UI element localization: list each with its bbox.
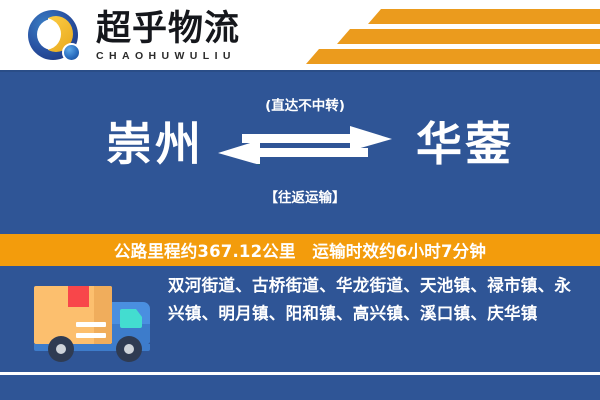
route-info-bar: 公路里程约367.12公里 运输时效约6小时7分钟 — [0, 234, 600, 266]
truck-wheel-front — [116, 336, 142, 362]
company-name-en: CHAOHUWULIU — [96, 50, 286, 63]
route-middle-group: (直达不中转) 【往返运输】 — [230, 94, 380, 214]
truck-box-tape — [68, 286, 89, 307]
direct-service-note: (直达不中转) — [230, 94, 380, 114]
truck-box-line-1 — [76, 322, 106, 327]
distance-duration-text: 公路里程约367.12公里 运输时效约6小时7分钟 — [114, 238, 486, 262]
stripe-1 — [368, 9, 600, 24]
route-section: 崇州 (直达不中转) 【往返运输】 华蓥 — [0, 72, 600, 234]
brand-logo: 超乎物流 CHAOHUWULIU — [26, 9, 286, 65]
brand-text-group: 超乎物流 CHAOHUWULIU — [96, 9, 286, 63]
decorative-stripes — [300, 0, 600, 72]
service-area-line: 兴镇、明月镇、阳和镇、高兴镇、溪口镇、庆华镇 — [168, 300, 580, 328]
round-trip-note: 【往返运输】 — [230, 186, 380, 206]
stripe-3 — [306, 49, 600, 64]
destination-city: 华蓥 — [370, 116, 560, 172]
bidirectional-arrow-icon — [216, 124, 394, 174]
service-area-list: 双河街道、古桥街道、华龙街道、天池镇、禄市镇、永 兴镇、明月镇、阳和镇、高兴镇、… — [168, 272, 580, 328]
chaohu-circle-logo-icon — [26, 10, 86, 64]
truck-box-line-2 — [76, 333, 106, 338]
delivery-truck-icon — [28, 278, 168, 372]
logo-dot-icon — [62, 43, 81, 62]
ground-line — [0, 372, 600, 375]
logistics-route-banner: 超乎物流 CHAOHUWULIU 崇州 (直达不中转) 【往返运输】 华蓥 公路… — [0, 0, 600, 400]
company-name-cn: 超乎物流 — [96, 9, 286, 49]
stripe-2 — [337, 29, 600, 44]
service-area-section: 双河街道、古桥街道、华龙街道、天池镇、禄市镇、永 兴镇、明月镇、阳和镇、高兴镇、… — [0, 266, 600, 400]
arrow-left-icon — [218, 140, 368, 164]
banner-header: 超乎物流 CHAOHUWULIU — [0, 0, 600, 72]
service-area-line: 双河街道、古桥街道、华龙街道、天池镇、禄市镇、永 — [168, 272, 580, 300]
truck-wheel-rear — [48, 336, 74, 362]
